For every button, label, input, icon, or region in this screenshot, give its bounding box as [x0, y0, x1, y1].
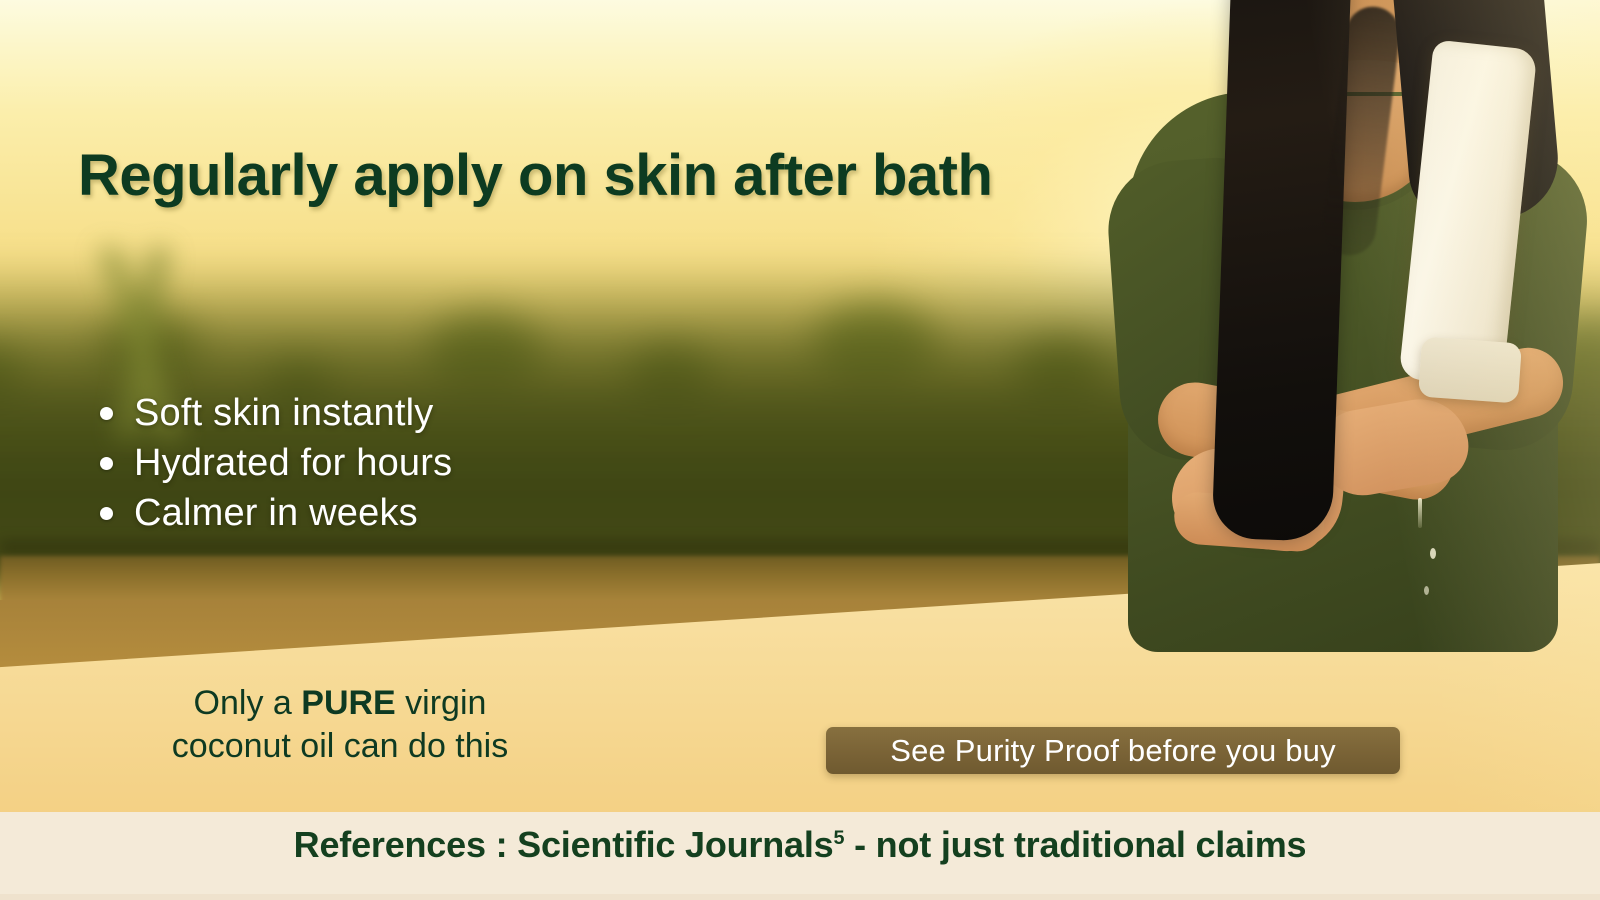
tagline-prefix: Only a: [194, 684, 302, 722]
benefits-list: Soft skin instantly Hydrated for hours C…: [100, 392, 452, 542]
benefit-label: Hydrated for hours: [134, 442, 452, 485]
references-prefix: References : Scientific Journals: [294, 824, 834, 865]
list-item: Soft skin instantly: [100, 392, 452, 435]
next-section-peek: [0, 894, 1600, 900]
bullet-dot-icon: [100, 407, 113, 420]
list-item: Calmer in weeks: [100, 492, 452, 535]
page-title: Regularly apply on skin after bath: [78, 146, 992, 207]
woman-figure: [1100, 0, 1600, 812]
references-text: References : Scientific Journals5 - not …: [294, 824, 1307, 866]
tagline: Only a PURE virgin coconut oil can do th…: [154, 682, 526, 768]
benefit-label: Calmer in weeks: [134, 492, 418, 535]
bullet-dot-icon: [100, 457, 113, 470]
references-suffix: - not just traditional claims: [844, 824, 1306, 865]
references-footer: References : Scientific Journals5 - not …: [0, 812, 1600, 900]
tagline-suffix: virgin: [396, 684, 487, 722]
ad-banner: Regularly apply on skin after bath Soft …: [0, 0, 1600, 900]
list-item: Hydrated for hours: [100, 442, 452, 485]
tagline-emphasis: PURE: [301, 684, 395, 722]
rim-light: [1100, 0, 1600, 812]
references-superscript: 5: [833, 827, 844, 849]
bullet-dot-icon: [100, 507, 113, 520]
tagline-line2: coconut oil can do this: [172, 727, 508, 765]
benefit-label: Soft skin instantly: [134, 392, 434, 435]
see-purity-proof-button[interactable]: See Purity Proof before you buy: [826, 727, 1400, 774]
